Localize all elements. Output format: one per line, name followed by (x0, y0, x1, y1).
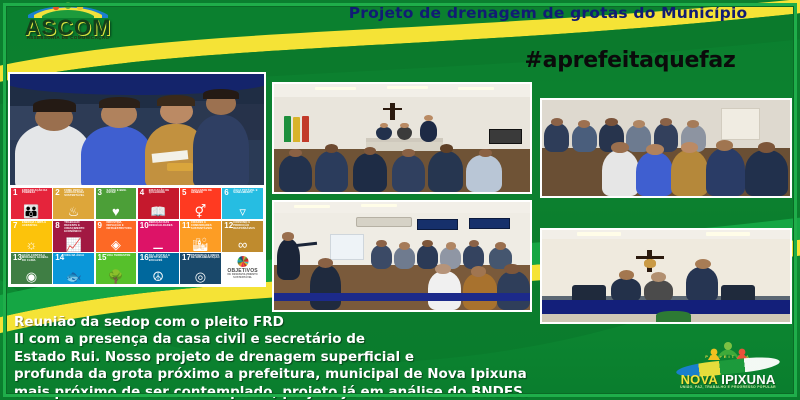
sdg-number: 10 (140, 222, 149, 230)
sdg-label: VIDA TERRESTRE (107, 255, 136, 258)
sdg-goal-16[interactable]: 16 PAZ, JUSTIÇA E INSTITUIÇÕES EFICAZES … (138, 253, 179, 284)
sdg-number: 13 (13, 254, 22, 262)
sdg-number: 7 (13, 222, 17, 230)
caption-line-2: II com a presença da casa civil e secret… (14, 331, 674, 348)
sdg-goal-4[interactable]: 4 EDUCAÇÃO DE QUALIDADE 📖 (138, 188, 179, 219)
sdg-label: REDUÇÃO DAS DESIGUALDADES (149, 222, 178, 228)
sdg-goal-8[interactable]: 8 TRABALHO DECENTE E CRESCIMENTO ECONÔMI… (53, 221, 94, 252)
heartbeat-icon: ♥ (96, 205, 137, 218)
sdg-number: 14 (55, 254, 64, 262)
photo-1-scene (10, 74, 264, 188)
eye-globe-icon: ◉ (11, 270, 52, 283)
poster-canvas: ASCOM ASSESSORIA DE COMUNICAÇÃO Projeto … (0, 0, 800, 400)
sdg-label: PAZ, JUSTIÇA E INSTITUIÇÕES EFICAZES (149, 255, 178, 264)
tree-bird-icon: 🌳 (96, 270, 137, 283)
sdg-label: EDUCAÇÃO DE QUALIDADE (149, 190, 178, 196)
caption-line-4: profunda da grota próximo a prefeitura, … (14, 366, 674, 383)
people-icon: 👪 (11, 205, 52, 218)
hashtag-label: #aprefeitaquefaz (470, 48, 790, 73)
sdg-number: 4 (140, 189, 144, 197)
photo-2-scene (274, 84, 530, 192)
cubes-icon: ◈ (96, 238, 137, 251)
sun-icon: ☼ (11, 238, 52, 251)
sdg-goal-12[interactable]: 12 CONSUMO E PRODUÇÃO RESPONSÁVEIS ∞ (222, 221, 263, 252)
bowl-icon: ♨ (53, 205, 94, 218)
sdg-goal-14[interactable]: 14 VIDA NA ÁGUA 🐟 (53, 253, 94, 284)
infinity-icon: ∞ (222, 238, 263, 251)
photo-4-scene (274, 202, 530, 310)
city-logo-tagline: UNIÃO, PAZ, TRABALHO E PROGRESSO POPULAR (664, 385, 792, 389)
sdg-number: 5 (182, 189, 186, 197)
growth-chart-icon: 📈 (53, 238, 94, 251)
sdg-number: 12 (224, 222, 233, 230)
caption-line-1: Reunião da sedop com o pleito FRD (14, 314, 674, 331)
sdg-label: TRABALHO DECENTE E CRESCIMENTO ECONÔMICO (64, 222, 93, 234)
photo-head-table (540, 228, 792, 324)
dove-gavel-icon: ☮ (138, 270, 179, 283)
sdg-label: INDÚSTRIA, INOVAÇÃO E INFRAESTRUTURA (107, 222, 136, 231)
sdg-number: 3 (98, 189, 102, 197)
sdg-goal-9[interactable]: 9 INDÚSTRIA, INOVAÇÃO E INFRAESTRUTURA ◈ (96, 221, 137, 252)
gender-icon: ⚥ (180, 205, 221, 218)
photo-audience (540, 98, 792, 198)
sdg-number: 16 (140, 254, 149, 262)
equals-icon: ⚊ (138, 238, 179, 251)
sdg-label: ERRADICAÇÃO DA POBREZA (22, 190, 51, 196)
sdg-logo-line2: DE DESENVOLVIMENTO SUSTENTÁVEL (222, 274, 263, 280)
sdg-number: 6 (224, 189, 228, 197)
sdg-goal-6[interactable]: 6 ÁGUA POTÁVEL E SANEAMENTO ▿ (222, 188, 263, 219)
photo-meeting-room (272, 82, 532, 194)
sdg-label: ÁGUA POTÁVEL E SANEAMENTO (233, 190, 262, 196)
book-icon: 📖 (138, 205, 179, 218)
sdg-goal-1[interactable]: 1 ERRADICAÇÃO DA POBREZA 👪 (11, 188, 52, 219)
fish-icon: 🐟 (53, 270, 94, 283)
sdg-label: PARCERIAS E MEIOS DE IMPLEMENTAÇÃO (191, 255, 220, 261)
water-drop-icon: ▿ (222, 205, 263, 218)
sdg-goal-2[interactable]: 2 FOME ZERO E AGRICULTURA SUSTENTÁVEL ♨ (53, 188, 94, 219)
photo-3-scene (542, 100, 790, 196)
caption-block: Reunião da sedop com o pleito FRD II com… (14, 314, 674, 400)
sdg-goal-10[interactable]: 10 REDUÇÃO DAS DESIGUALDADES ⚊ (138, 221, 179, 252)
sdg-goal-7[interactable]: 7 ENERGIA LIMPA E ACESSÍVEL ☼ (11, 221, 52, 252)
sdg-goal-5[interactable]: 5 IGUALDADE DE GÊNERO ⚥ (180, 188, 221, 219)
sdg-number: 11 (182, 222, 190, 230)
photo-presentation (272, 200, 532, 312)
nova-ipixuna-logo: PREFEITURA NOVA IPIXUNA UNIÃO, PAZ, TRAB… (664, 340, 792, 394)
partnership-rings-icon: ◎ (180, 270, 221, 283)
page-title: Projeto de drenagem de grotas do Municíp… (300, 4, 796, 22)
sdg-goal-11[interactable]: 11 CIDADES E COMUNIDADES SUSTENTÁVEIS 🏙 (180, 221, 221, 252)
sdg-goal-15[interactable]: 15 VIDA TERRESTRE 🌳 (96, 253, 137, 284)
sdg-label: ENERGIA LIMPA E ACESSÍVEL (22, 222, 51, 228)
sdg-goal-17[interactable]: 17 PARCERIAS E MEIOS DE IMPLEMENTAÇÃO ◎ (180, 253, 221, 284)
sdg-number: 8 (55, 222, 59, 230)
photo-seated-group (8, 72, 266, 190)
ascom-subtitle: ASSESSORIA DE COMUNICAÇÃO (12, 35, 124, 40)
sdg-label: FOME ZERO E AGRICULTURA SUSTENTÁVEL (64, 190, 93, 199)
sdg-number: 17 (182, 254, 191, 262)
sdg-number: 2 (55, 189, 59, 197)
sdg-label: CONSUMO E PRODUÇÃO RESPONSÁVEIS (233, 222, 262, 231)
sdg-number: 9 (98, 222, 102, 230)
sdg-goals-grid: 1 ERRADICAÇÃO DA POBREZA 👪 2 FOME ZERO E… (8, 185, 266, 287)
sdg-label: VIDA NA ÁGUA (64, 255, 93, 258)
sdg-goal-13[interactable]: 13 AÇÃO CONTRA A MUDANÇA GLOBAL DO CLIMA… (11, 253, 52, 284)
sdg-label: AÇÃO CONTRA A MUDANÇA GLOBAL DO CLIMA (22, 255, 51, 264)
photo-5-scene (542, 230, 790, 322)
sdg-number: 1 (13, 189, 17, 197)
caption-line-3: Estado Rui. Nosso projeto de drenagem su… (14, 349, 674, 366)
sdg-label: SAÚDE E BEM-ESTAR (107, 190, 136, 196)
sdg-goal-3[interactable]: 3 SAÚDE E BEM-ESTAR ♥ (96, 188, 137, 219)
city-icon: 🏙 (180, 238, 221, 251)
sdg-number: 15 (98, 254, 107, 262)
caption-line-5: mais próximo de ser contemplado, projeto… (14, 384, 674, 400)
sdg-brand-logo[interactable]: OBJETIVOS DE DESENVOLVIMENTO SUSTENTÁVEL (222, 253, 263, 284)
ascom-logo: ASCOM ASSESSORIA DE COMUNICAÇÃO (8, 1, 128, 45)
sdg-color-wheel-icon (237, 256, 248, 267)
sdg-label: CIDADES E COMUNIDADES SUSTENTÁVEIS (191, 222, 220, 231)
sdg-label: IGUALDADE DE GÊNERO (191, 190, 220, 196)
